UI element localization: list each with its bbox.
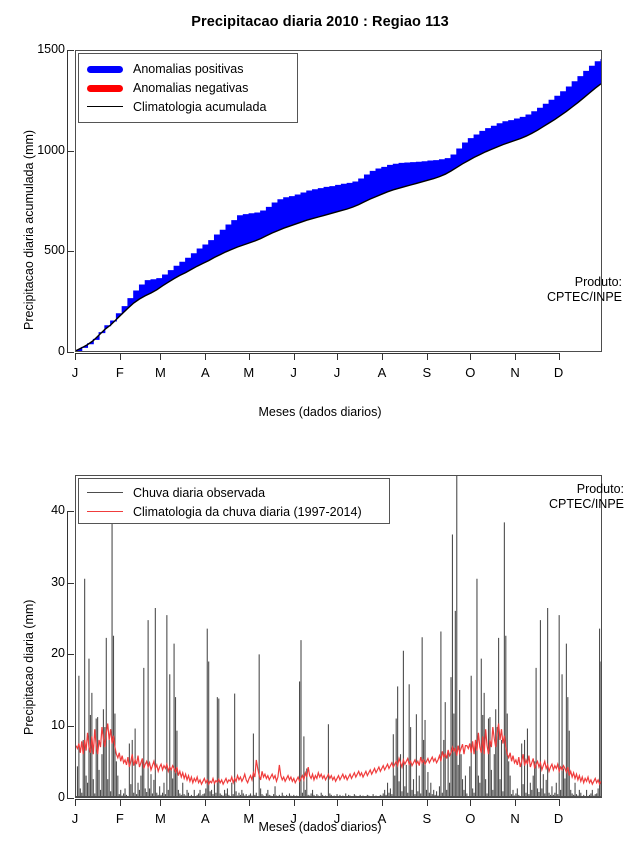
x-tick-label: N: [503, 811, 527, 826]
legend-daily: Chuva diaria observada Climatologia da c…: [78, 478, 390, 524]
positive-anomaly-swatch-icon: [87, 60, 125, 78]
x-tick-label: A: [370, 811, 394, 826]
x-tick-mark: [559, 353, 560, 360]
x-axis-line: [75, 353, 559, 354]
legend-label: Climatologia acumulada: [133, 100, 266, 114]
x-tick-label: N: [503, 365, 527, 380]
y-axis-label-daily: Precipitacao diaria (mm): [22, 600, 36, 735]
observed-rain-bars: [77, 476, 601, 797]
x-tick-label: J: [63, 365, 87, 380]
y-tick-mark: [67, 151, 74, 152]
legend-item-daily-climatology: Climatologia da chuva diaria (1997-2014): [87, 503, 381, 521]
x-tick-label: J: [63, 811, 87, 826]
x-tick-mark: [249, 799, 250, 806]
y-tick-mark: [67, 251, 74, 252]
x-tick-label: J: [282, 365, 306, 380]
x-axis-label-daily: Meses (dados diarios): [0, 820, 640, 834]
x-tick-mark: [120, 799, 121, 806]
y-tick-label: 30: [27, 575, 65, 589]
x-tick-mark: [382, 353, 383, 360]
x-tick-mark: [75, 799, 76, 806]
y-tick-mark: [67, 654, 74, 655]
y-axis-line: [67, 50, 68, 352]
figure-root: Precipitacao diaria 2010 : Regiao 113 Pr…: [0, 0, 640, 850]
y-tick-mark: [67, 352, 74, 353]
x-tick-mark: [470, 353, 471, 360]
x-tick-mark: [120, 353, 121, 360]
x-tick-mark: [249, 353, 250, 360]
legend-item-climatology: Climatologia acumulada: [87, 98, 289, 116]
legend-label: Climatologia da chuva diaria (1997-2014): [133, 505, 362, 519]
legend-label: Chuva diaria observada: [133, 486, 265, 500]
x-tick-label: M: [148, 811, 172, 826]
x-tick-label: J: [282, 811, 306, 826]
x-tick-label: J: [325, 365, 349, 380]
daily-series-canvas: [76, 476, 601, 797]
x-tick-mark: [559, 799, 560, 806]
accumulated-precipitation-panel: Precipitacao diaria 2010 : Regiao 113 Pr…: [0, 0, 640, 430]
y-tick-mark: [67, 511, 74, 512]
x-tick-mark: [427, 353, 428, 360]
y-tick-mark: [67, 726, 74, 727]
x-axis-label-accumulated: Meses (dados diarios): [0, 405, 640, 419]
x-tick-label: M: [237, 365, 261, 380]
negative-anomaly-swatch-icon: [87, 79, 125, 97]
x-tick-label: M: [148, 365, 172, 380]
x-tick-mark: [160, 799, 161, 806]
x-tick-label: M: [237, 811, 261, 826]
producer-credit: Produto: CPTEC/INPE: [547, 275, 622, 305]
observed-rain-line-swatch-icon: [87, 484, 125, 502]
y-tick-label: 0: [27, 344, 65, 358]
x-tick-mark: [205, 799, 206, 806]
x-tick-label: O: [458, 365, 482, 380]
daily-precipitation-panel: Precipitacao diaria (mm) Chuva diaria ob…: [0, 430, 640, 850]
page-title: Precipitacao diaria 2010 : Regiao 113: [0, 14, 640, 30]
x-tick-label: D: [547, 811, 571, 826]
x-tick-mark: [160, 353, 161, 360]
x-tick-mark: [294, 353, 295, 360]
climatology-line-swatch-icon: [87, 98, 125, 116]
y-tick-label: 1000: [27, 143, 65, 157]
y-tick-label: 500: [27, 243, 65, 257]
x-tick-label: A: [193, 365, 217, 380]
y-tick-label: 20: [27, 646, 65, 660]
legend-label: Anomalias positivas: [133, 62, 243, 76]
x-tick-mark: [470, 799, 471, 806]
x-tick-label: O: [458, 811, 482, 826]
x-tick-label: A: [370, 365, 394, 380]
producer-credit: Produto: CPTEC/INPE: [549, 482, 624, 512]
legend-item-positive-anomaly: Anomalias positivas: [87, 60, 289, 78]
x-tick-mark: [337, 353, 338, 360]
x-axis-line: [75, 799, 559, 800]
y-tick-mark: [67, 583, 74, 584]
x-tick-label: J: [325, 811, 349, 826]
daily-climatology-line-swatch-icon: [87, 503, 125, 521]
legend-label: Anomalias negativas: [133, 81, 248, 95]
x-tick-mark: [515, 799, 516, 806]
x-tick-mark: [515, 353, 516, 360]
y-axis-line: [67, 511, 68, 798]
y-tick-label: 10: [27, 718, 65, 732]
x-tick-label: S: [415, 811, 439, 826]
legend-item-observed-rain: Chuva diaria observada: [87, 484, 381, 502]
legend-accumulated: Anomalias positivas Anomalias negativas …: [78, 53, 298, 123]
x-tick-mark: [75, 353, 76, 360]
y-tick-mark: [67, 50, 74, 51]
y-tick-label: 40: [27, 503, 65, 517]
x-tick-label: A: [193, 811, 217, 826]
y-tick-mark: [67, 798, 74, 799]
x-tick-mark: [337, 799, 338, 806]
y-axis-label-accumulated: Precipitacao diaria acumulada (mm): [22, 130, 36, 330]
x-tick-mark: [427, 799, 428, 806]
x-tick-label: S: [415, 365, 439, 380]
x-tick-mark: [294, 799, 295, 806]
x-tick-mark: [205, 353, 206, 360]
x-tick-label: F: [108, 811, 132, 826]
y-tick-label: 0: [27, 790, 65, 804]
legend-item-negative-anomaly: Anomalias negativas: [87, 79, 289, 97]
daily-climatology-line: [76, 724, 601, 785]
x-tick-label: D: [547, 365, 571, 380]
x-tick-label: F: [108, 365, 132, 380]
y-tick-label: 1500: [27, 42, 65, 56]
x-tick-mark: [382, 799, 383, 806]
